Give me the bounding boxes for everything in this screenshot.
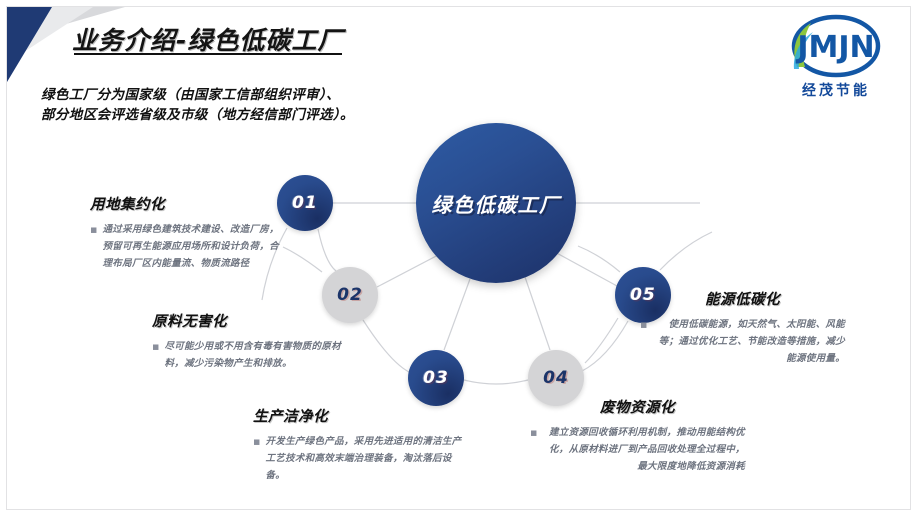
diagram-item-03-heading: 生产洁净化 (253, 405, 463, 426)
diagram-node-04-number: 04 (543, 368, 569, 388)
diagram-item-04-body: 建立资源回收循环利用机制，推动用能结构优化，从原材料进厂到产品回收处理全过程中，… (542, 424, 745, 475)
diagram-item-02-heading: 原料无害化 (152, 310, 347, 331)
diagram-center-node[interactable]: 绿色低碳工厂 (416, 123, 576, 283)
diagram-item-04-heading: 废物资源化 (530, 396, 745, 417)
diagram-node-02-number: 02 (337, 285, 363, 305)
bullet-dot-icon: ▪ (90, 221, 97, 238)
diagram-item-04-bullet: ▪ 建立资源回收循环利用机制，推动用能结构优化，从原材料进厂到产品回收处理全过程… (530, 424, 745, 475)
diagram-item-05: 能源低碳化 ▪ 使用低碳能源，如天然气、太阳能、风能等；通过优化工艺、节能改造等… (640, 288, 845, 367)
diagram-node-01[interactable]: 01 (277, 175, 333, 231)
diagram-item-05-body: 使用低碳能源，如天然气、太阳能、风能等；通过优化工艺、节能改造等措施，减少能源使… (652, 316, 845, 367)
diagram-node-01-number: 01 (292, 193, 318, 213)
diagram-item-01-heading: 用地集约化 (90, 193, 280, 214)
bullet-dot-icon: ▪ (640, 316, 647, 333)
diagram-item-02-bullet: ▪ 尽可能少用或不用含有毒有害物质的原材料，减少污染物产生和排放。 (152, 338, 347, 372)
diagram-item-03: 生产洁净化 ▪ 开发生产绿色产品，采用先进适用的清洁生产工艺技术和高效末端治理装… (253, 405, 463, 484)
diagram-item-03-body: 开发生产绿色产品，采用先进适用的清洁生产工艺技术和高效末端治理装备，淘汰落后设备… (265, 433, 463, 484)
diagram-item-05-bullet: ▪ 使用低碳能源，如天然气、太阳能、风能等；通过优化工艺、节能改造等措施，减少能… (640, 316, 845, 367)
diagram-item-01-bullet: ▪ 通过采用绿色建筑技术建设、改造厂房，预留可再生能源应用场所和设计负荷，合理布… (90, 221, 280, 272)
bullet-dot-icon: ▪ (530, 424, 537, 441)
diagram-item-04: 废物资源化 ▪ 建立资源回收循环利用机制，推动用能结构优化，从原材料进厂到产品回… (530, 396, 745, 475)
diagram-item-02-body: 尽可能少用或不用含有毒有害物质的原材料，减少污染物产生和排放。 (164, 338, 347, 372)
bullet-dot-icon: ▪ (152, 338, 159, 355)
diagram-node-03-number: 03 (423, 368, 449, 388)
slide-canvas: 业务介绍-绿色低碳工厂 绿色工厂分为国家级（由国家工信部组织评审）、 部分地区会… (0, 0, 919, 518)
diagram-item-01: 用地集约化 ▪ 通过采用绿色建筑技术建设、改造厂房，预留可再生能源应用场所和设计… (90, 193, 280, 272)
diagram-item-05-heading: 能源低碳化 (640, 288, 845, 309)
bullet-dot-icon: ▪ (253, 433, 260, 450)
diagram-item-02: 原料无害化 ▪ 尽可能少用或不用含有毒有害物质的原材料，减少污染物产生和排放。 (152, 310, 347, 372)
diagram-item-01-body: 通过采用绿色建筑技术建设、改造厂房，预留可再生能源应用场所和设计负荷，合理布局厂… (102, 221, 280, 272)
diagram-item-03-bullet: ▪ 开发生产绿色产品，采用先进适用的清洁生产工艺技术和高效末端治理装备，淘汰落后… (253, 433, 463, 484)
diagram-center-label: 绿色低碳工厂 (432, 189, 561, 218)
diagram-node-03[interactable]: 03 (408, 350, 464, 406)
